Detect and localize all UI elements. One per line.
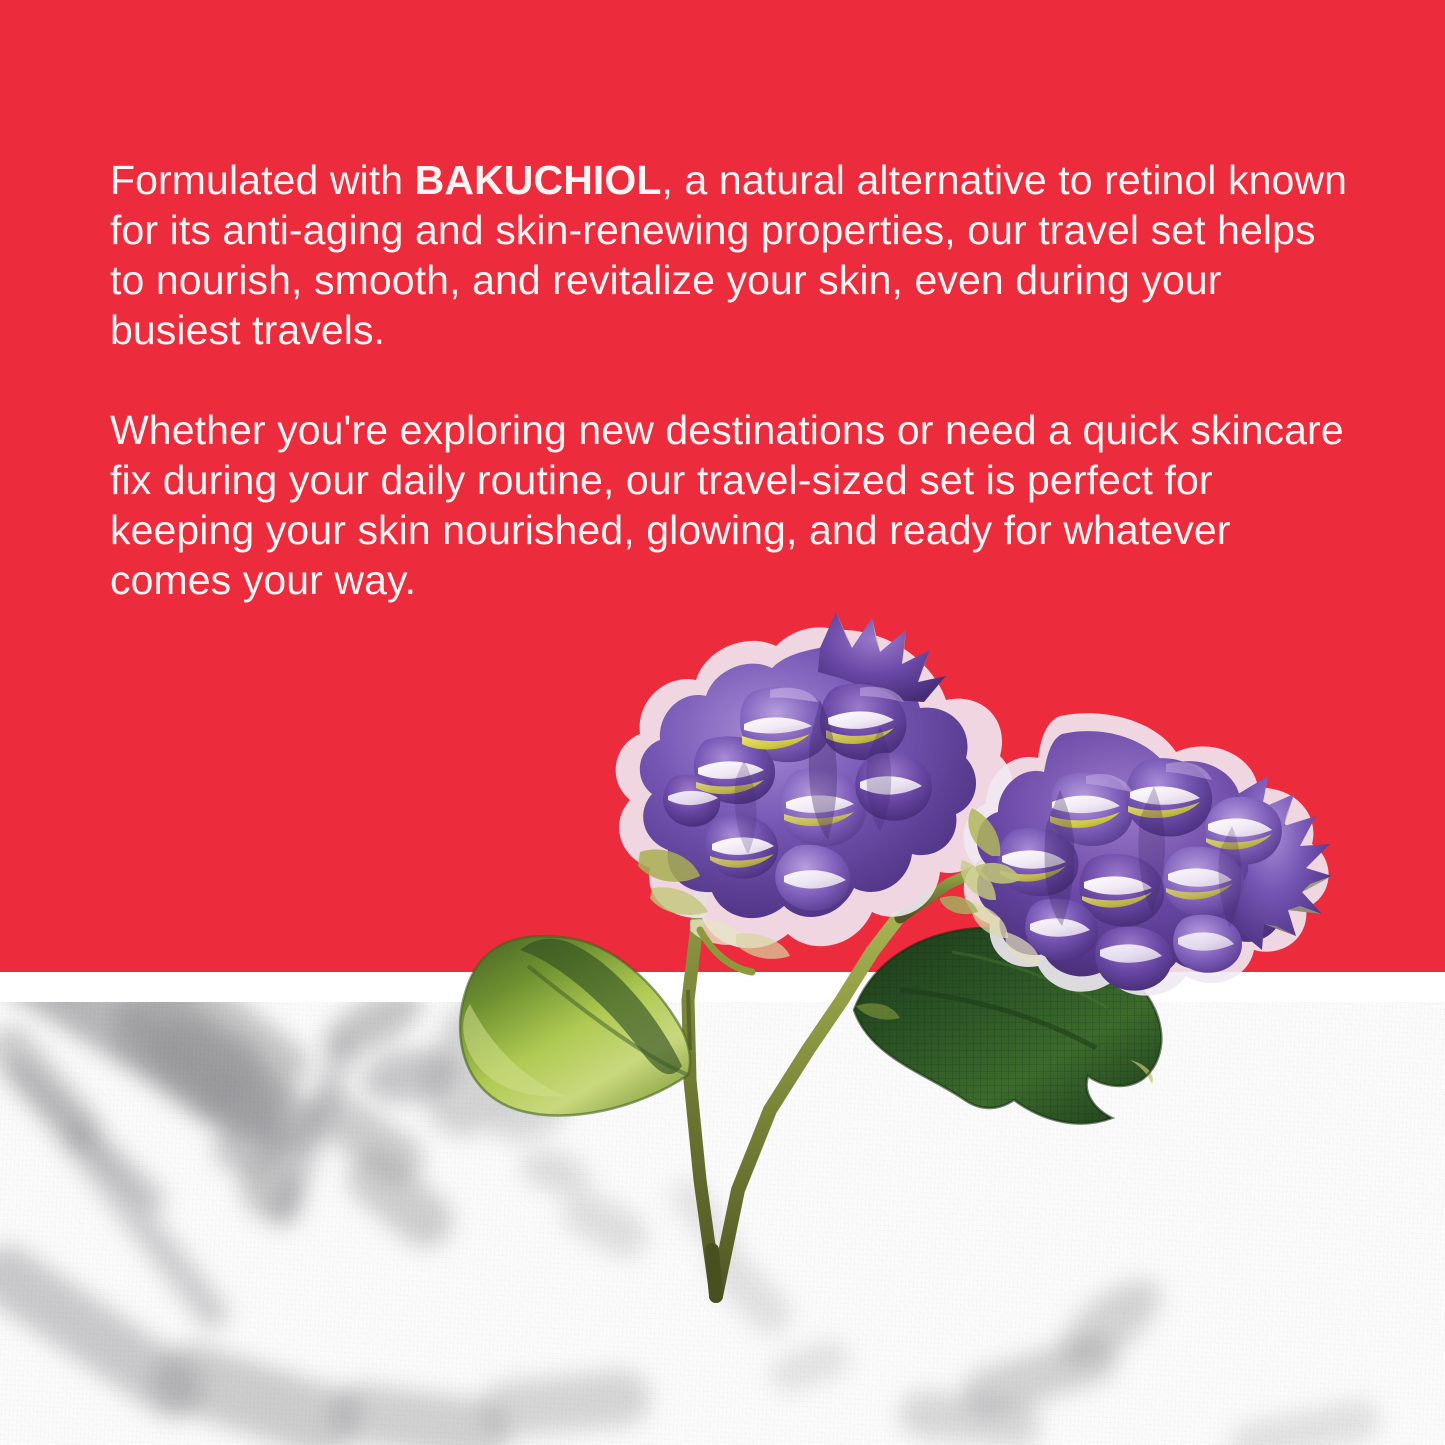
paper-background-panel	[0, 972, 1445, 1445]
description-copy: Formulated with BAKUCHIOL, a natural alt…	[110, 155, 1350, 605]
product-description-card: Formulated with BAKUCHIOL, a natural alt…	[0, 0, 1445, 1445]
bakuchiol-highlight: BAKUCHIOL	[415, 157, 662, 203]
paragraph-2: Whether you're exploring new destination…	[110, 405, 1350, 605]
paper-texture	[0, 972, 1445, 1445]
paragraph-1: Formulated with BAKUCHIOL, a natural alt…	[110, 155, 1350, 355]
paragraph-1-lead: Formulated with	[110, 157, 415, 203]
white-band	[0, 972, 1445, 1002]
